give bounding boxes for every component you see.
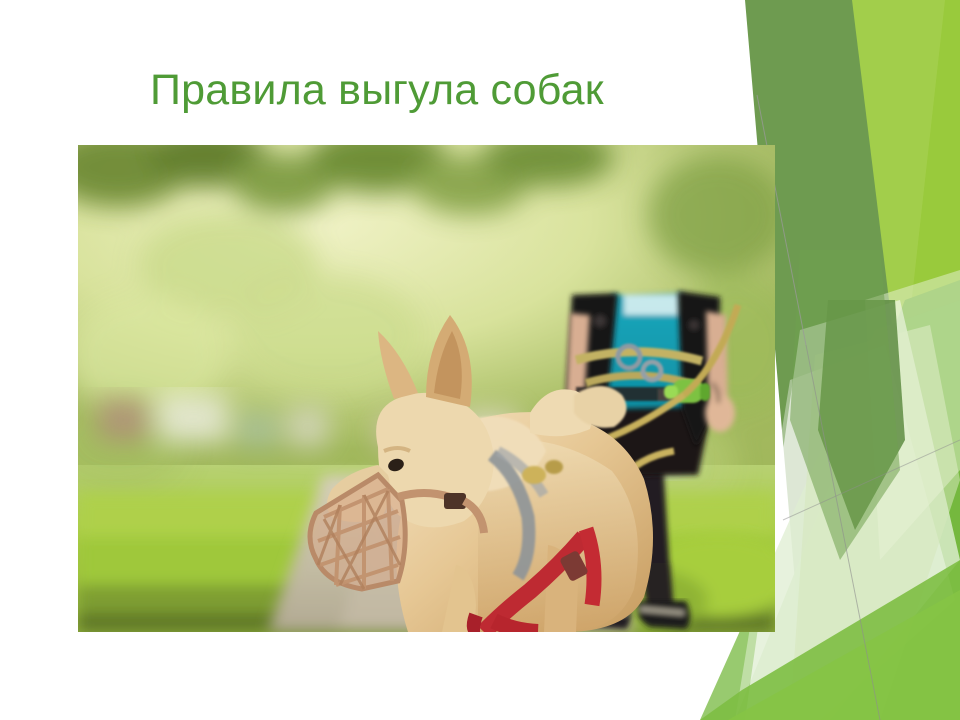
deco-hairline-3 (783, 440, 960, 520)
slide-canvas: Правила выгула собак (0, 0, 960, 720)
deco-shape-lime-right2 (790, 0, 960, 720)
deco-hairline-2 (806, 345, 880, 720)
slide-photo (78, 145, 775, 632)
deco-shape-olive-core (818, 300, 905, 530)
deco-shape-pale-4 (865, 270, 960, 560)
deco-shape-olive-core2 (790, 250, 900, 560)
photo-illustration (78, 145, 775, 632)
muzzle-strap (398, 493, 450, 497)
deco-shape-pale-1 (745, 300, 960, 720)
muzzle-buckle (444, 493, 466, 509)
shirt-print (624, 295, 680, 315)
deco-shape-lime-right (880, 0, 960, 720)
page-title: Правила выгула собак (150, 68, 604, 113)
deco-shape-pale-3 (790, 325, 960, 720)
